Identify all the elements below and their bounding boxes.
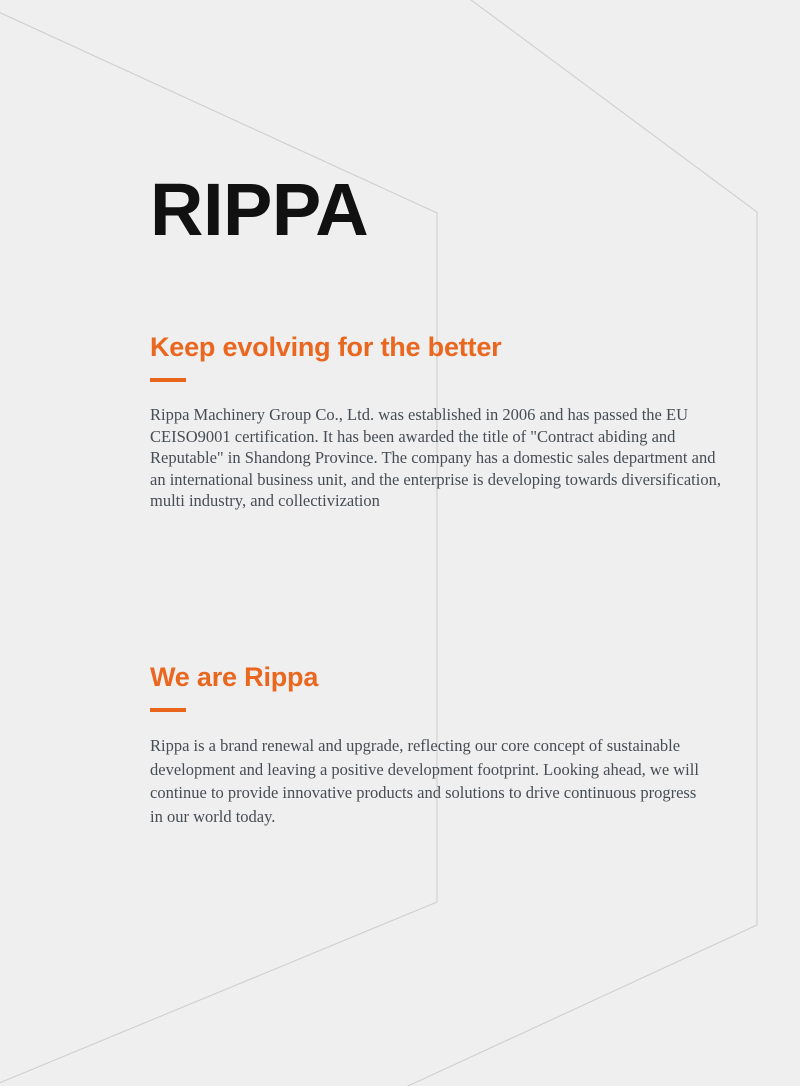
section-we-are-rippa: We are Rippa Rippa is a brand renewal an… — [150, 660, 735, 828]
section-heading-we-are-rippa: We are Rippa — [150, 660, 735, 694]
content-column: RIPPA Keep evolving for the better Rippa… — [150, 0, 750, 1086]
section-body-we-are-rippa: Rippa is a brand renewal and upgrade, re… — [150, 734, 706, 828]
brand-logo: RIPPA — [150, 168, 368, 252]
section-heading-about: Keep evolving for the better — [150, 330, 735, 364]
section-about: Keep evolving for the better Rippa Machi… — [150, 330, 735, 512]
section-body-about: Rippa Machinery Group Co., Ltd. was esta… — [150, 404, 730, 512]
page-root: RIPPA Keep evolving for the better Rippa… — [0, 0, 800, 1086]
heading-rule-about — [150, 378, 186, 382]
heading-rule-we-are-rippa — [150, 708, 186, 712]
